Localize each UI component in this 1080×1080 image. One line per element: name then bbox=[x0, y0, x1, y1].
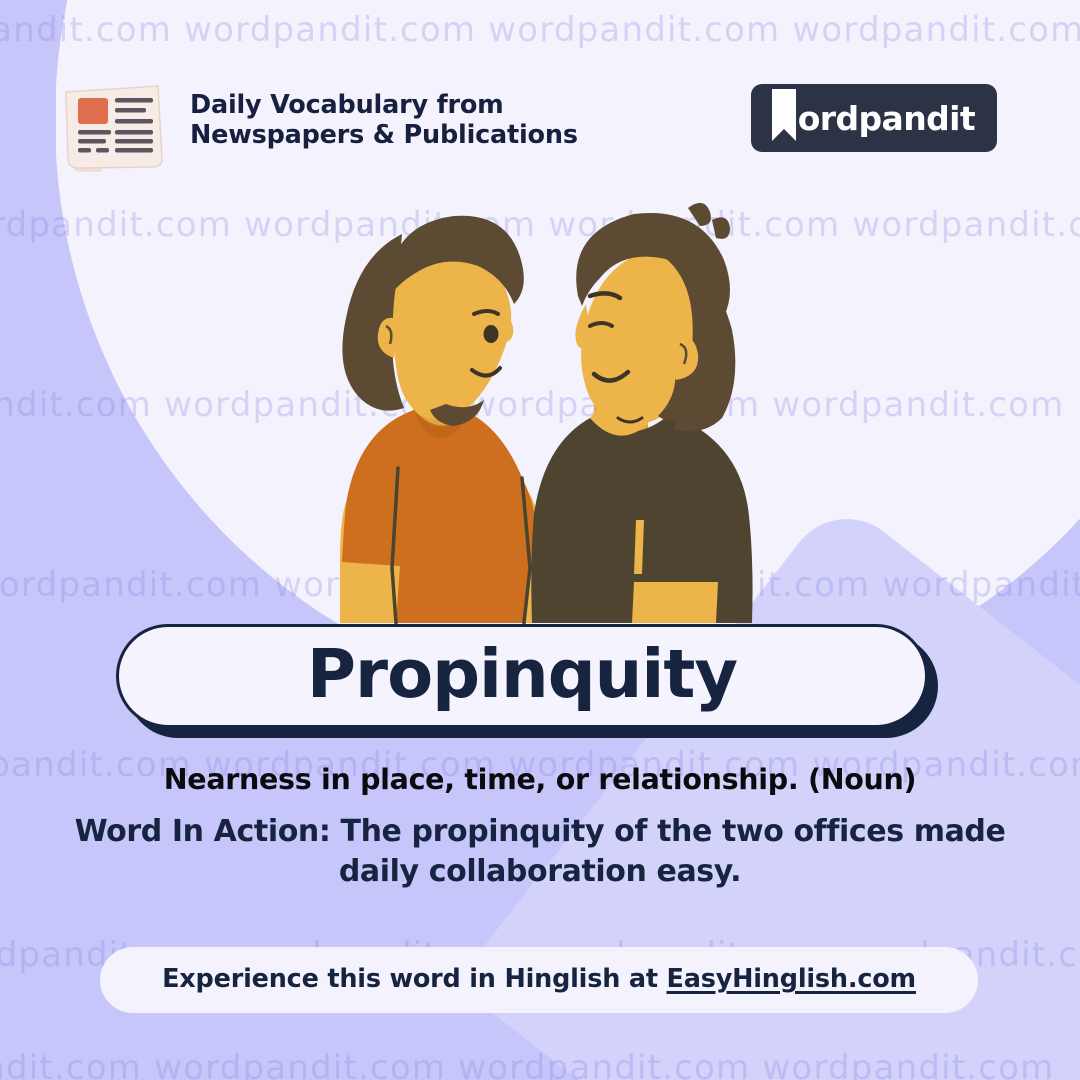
word-card: Propinquity bbox=[116, 624, 928, 728]
definition-block: Nearness in place, time, or relationship… bbox=[40, 762, 1040, 892]
footer-prefix: Experience this word in Hinglish at bbox=[162, 964, 666, 994]
brand-name: ordpandit bbox=[798, 102, 975, 135]
footer-text: Experience this word in Hinglish at Easy… bbox=[162, 967, 916, 993]
header-title: Daily Vocabulary from Newspapers & Publi… bbox=[190, 90, 578, 150]
wordpandit-logo[interactable]: ordpandit bbox=[751, 84, 997, 152]
newspaper-icon bbox=[58, 72, 170, 174]
man-figure bbox=[531, 203, 752, 623]
word-example: Word In Action: The propinquity of the t… bbox=[40, 812, 1040, 892]
word-definition: Nearness in place, time, or relationship… bbox=[40, 762, 1040, 798]
header-title-line-2: Newspapers & Publications bbox=[190, 120, 578, 150]
bookmark-icon bbox=[769, 89, 799, 147]
vocabulary-card-canvas: wordpandit.com wordpandit.com wordpandit… bbox=[0, 0, 1080, 1080]
word-term: Propinquity bbox=[307, 641, 737, 708]
word-card-surface: Propinquity bbox=[116, 624, 928, 728]
easyhinglish-link[interactable]: EasyHinglish.com bbox=[667, 964, 916, 994]
header-title-line-1: Daily Vocabulary from bbox=[190, 90, 578, 120]
woman-figure bbox=[340, 216, 548, 623]
header: Daily Vocabulary from Newspapers & Publi… bbox=[0, 0, 1080, 180]
two-people-close-together-illustration bbox=[318, 168, 766, 628]
footer-bar[interactable]: Experience this word in Hinglish at Easy… bbox=[100, 947, 978, 1013]
